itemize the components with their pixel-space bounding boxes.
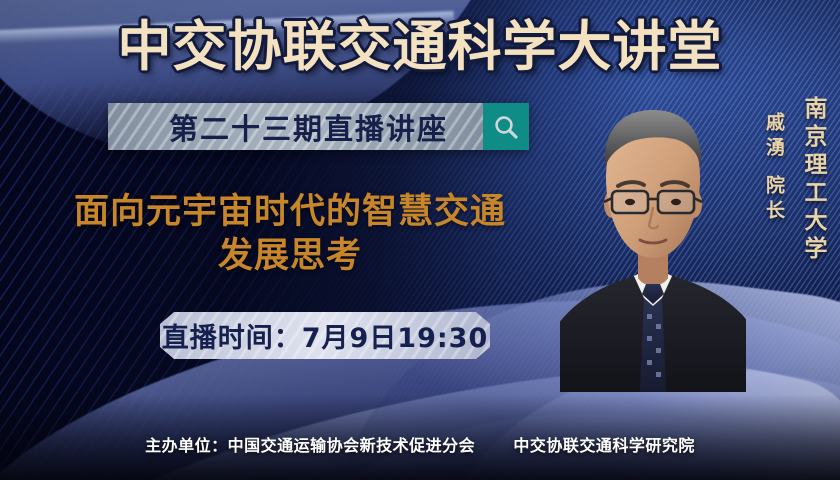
lecture-title-line-2: 发展思考	[26, 234, 554, 278]
search-icon[interactable]	[483, 103, 529, 150]
speaker-info: 戚湧 院长 南京理工大学	[761, 96, 830, 264]
live-time-text: 直播时间：7月9日19:30	[162, 316, 489, 355]
footer-organizer-secondary: 中交协联交通科学研究院	[513, 436, 695, 455]
lecture-title: 面向元宇宙时代的智慧交通 发展思考	[26, 190, 554, 278]
footer-organizers: 主办单位：中国交通运输协会新技术促进分会 中交协联交通科学研究院	[0, 432, 840, 456]
live-time-badge: 直播时间：7月9日19:30	[160, 312, 490, 359]
footer-organizer-primary: 主办单位：中国交通运输协会新技术促进分会	[145, 436, 475, 455]
series-bar-label: 第二十三期直播讲座	[143, 106, 448, 148]
speaker-name-title: 戚湧 院长	[761, 112, 788, 264]
speaker-portrait	[560, 92, 746, 392]
page-title: 中交协联交通科学大讲堂	[0, 16, 840, 78]
live-lecture-poster: 戚湧 院长 南京理工大学 中交协联交通科学大讲堂 第二十三期直播讲座 面向元宇宙…	[0, 0, 840, 480]
series-bar: 第二十三期直播讲座	[108, 103, 529, 150]
speaker-organization: 南京理工大学	[796, 96, 830, 264]
lecture-title-line-1: 面向元宇宙时代的智慧交通	[26, 190, 554, 234]
series-bar-label-container: 第二十三期直播讲座	[108, 103, 483, 150]
